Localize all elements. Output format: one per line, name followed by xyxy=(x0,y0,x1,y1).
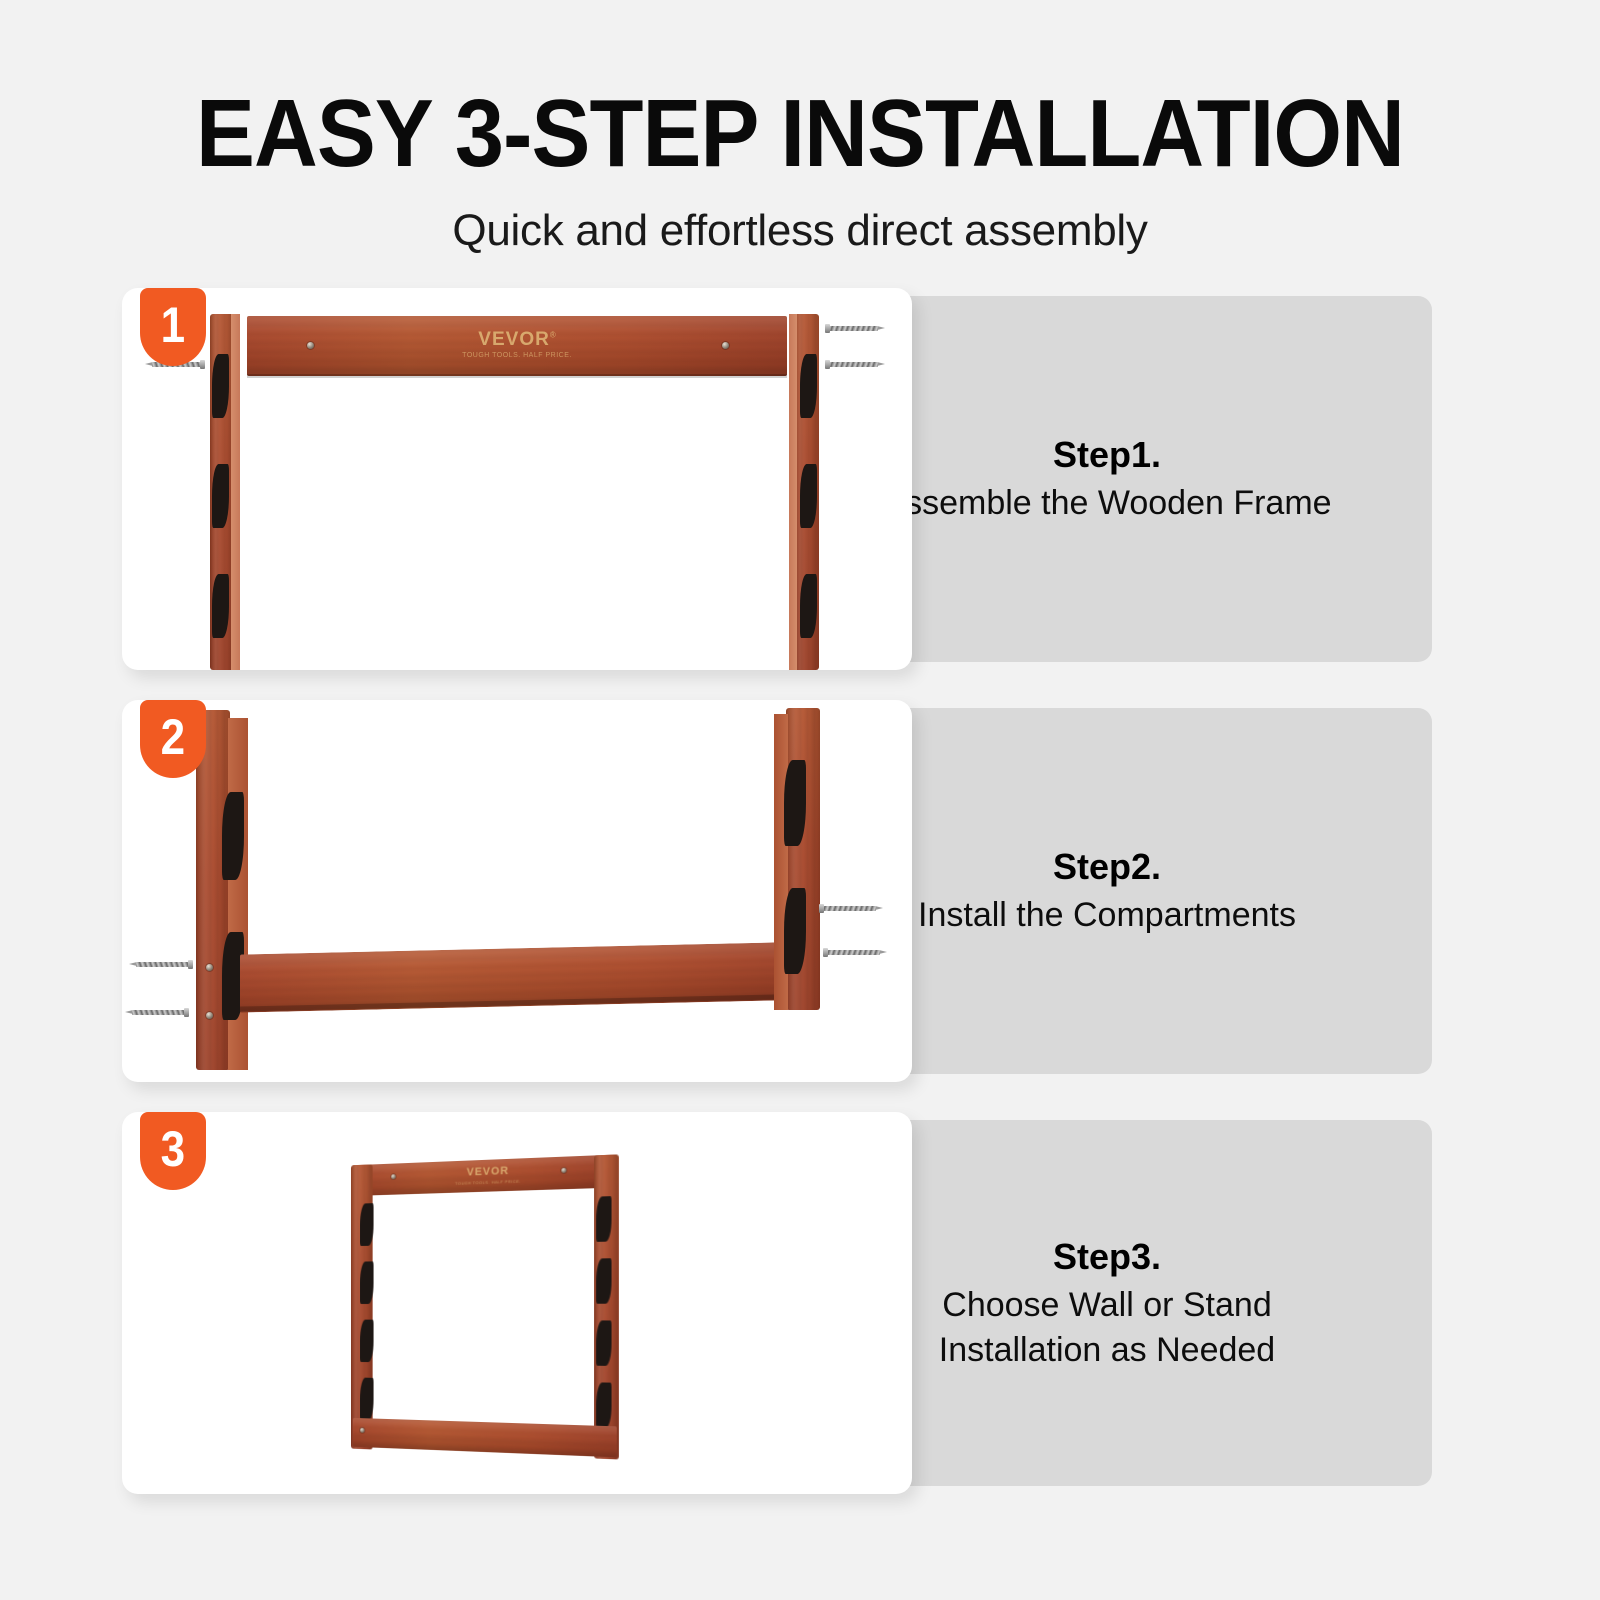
step-2-illustration xyxy=(122,700,912,1082)
step-2-description: Install the Compartments xyxy=(918,893,1296,938)
vevor-logo: VEVOR® TOUGH TOOLS. HALF PRICE. xyxy=(447,330,587,359)
left-post-highlight xyxy=(231,314,240,670)
header: EASY 3-STEP INSTALLATION Quick and effor… xyxy=(0,0,1600,256)
step-3-badge: 3 xyxy=(140,1112,206,1190)
step-1-image-card: VEVOR® TOUGH TOOLS. HALF PRICE. xyxy=(122,288,912,670)
step-2-badge-number: 2 xyxy=(161,712,185,762)
rack-right-notch-2 xyxy=(596,1258,612,1304)
screw-left-top xyxy=(136,960,190,969)
top-rail-shadow-edge xyxy=(247,374,787,378)
rack-right-notch-4 xyxy=(596,1382,612,1428)
step-1-badge-number: 1 xyxy=(161,300,185,350)
vevor-tagline: TOUGH TOOLS. HALF PRICE. xyxy=(447,352,587,359)
rail-screw-hole-left xyxy=(307,342,314,349)
step-1-title: Step1. xyxy=(1053,432,1161,477)
rack-bottom-rail xyxy=(353,1418,617,1458)
step-3-title: Step3. xyxy=(1053,1234,1161,1279)
infographic-page: EASY 3-STEP INSTALLATION Quick and effor… xyxy=(0,0,1600,1600)
page-subtitle: Quick and effortless direct assembly xyxy=(0,206,1600,256)
step-row-3: Step3. Choose Wall or Stand Installation… xyxy=(122,1112,1432,1494)
right-post-notch-3 xyxy=(800,574,817,638)
left-post-screw-hole-top xyxy=(206,964,213,971)
right-post-notch-1 xyxy=(800,354,817,418)
step-3-description-line-1: Choose Wall or Stand xyxy=(942,1283,1271,1328)
step-2-image-card: 2 xyxy=(122,700,912,1082)
step-row-1: Step1. Assemble the Wooden Frame VEVOR® … xyxy=(122,288,1432,670)
step-3-illustration: VEVOR TOUGH TOOLS. HALF PRICE. xyxy=(122,1112,912,1494)
rack-left-notch-2 xyxy=(360,1261,374,1304)
right-post-notch-2 xyxy=(784,888,806,974)
registered-mark: ® xyxy=(550,331,556,340)
screw-right-bottom xyxy=(826,948,880,957)
left-post-screw-hole-bottom xyxy=(206,1012,213,1019)
rack-vevor-logo: VEVOR TOUGH TOOLS. HALF PRICE. xyxy=(449,1165,527,1186)
rack-right-notch-3 xyxy=(596,1320,612,1366)
rack-left-notch-3 xyxy=(360,1320,374,1363)
rack-right-notch-1 xyxy=(596,1196,612,1242)
step-2-badge: 2 xyxy=(140,700,206,778)
left-post-notch-1 xyxy=(222,792,244,880)
screw-right-bottom xyxy=(828,360,878,369)
step-3-description-line-2: Installation as Needed xyxy=(939,1328,1275,1373)
rack-bottom-hole-left xyxy=(360,1428,365,1433)
rack-left-notch-1 xyxy=(360,1203,374,1246)
assembled-rack: VEVOR TOUGH TOOLS. HALF PRICE. xyxy=(340,1154,634,1460)
left-post-notch-1 xyxy=(212,354,229,418)
rack-left-notch-4 xyxy=(360,1378,374,1421)
rail-screw-hole-right xyxy=(722,342,729,349)
step-1-description: Assemble the Wooden Frame xyxy=(882,481,1331,526)
step-3-badge-number: 3 xyxy=(161,1124,185,1174)
step-3-image-card: VEVOR TOUGH TOOLS. HALF PRICE. xyxy=(122,1112,912,1494)
step-2-title: Step2. xyxy=(1053,844,1161,889)
right-post-highlight xyxy=(789,314,797,670)
left-post-notch-3 xyxy=(212,574,229,638)
page-title: EASY 3-STEP INSTALLATION xyxy=(64,86,1536,182)
step-row-2: Step2. Install the Compartments xyxy=(122,700,1432,1082)
right-post-notch-1 xyxy=(784,760,806,846)
vevor-wordmark: VEVOR xyxy=(478,329,550,350)
left-post-notch-2 xyxy=(212,464,229,528)
screw-left-bottom xyxy=(132,1008,186,1017)
step-1-badge: 1 xyxy=(140,288,206,366)
step-1-illustration: VEVOR® TOUGH TOOLS. HALF PRICE. xyxy=(122,288,912,670)
screw-right-top xyxy=(828,324,878,333)
right-post-notch-2 xyxy=(800,464,817,528)
screw-right-top xyxy=(822,904,876,913)
